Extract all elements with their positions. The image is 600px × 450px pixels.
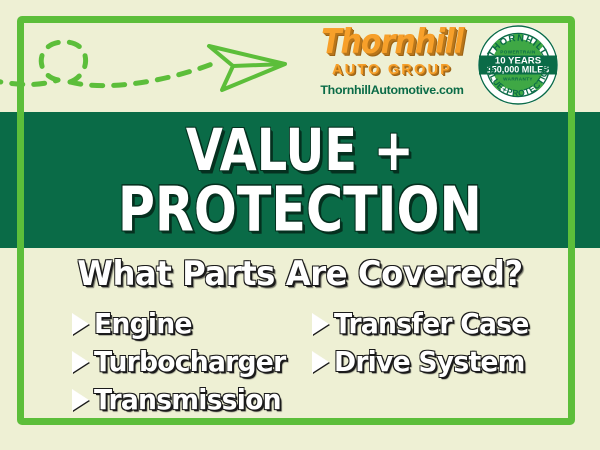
parts-column-right: Transfer Case Drive System xyxy=(312,305,539,381)
list-item: Engine xyxy=(72,305,296,343)
part-label: Transfer Case xyxy=(334,309,529,339)
subtitle-question: What Parts Are Covered? xyxy=(15,254,585,294)
flight-path-decoration xyxy=(0,18,320,110)
headline: VALUE + PROTECTION xyxy=(0,112,600,248)
warranty-badge-icon: THORNHILL POWERTRAIN 10 YEARS 150,000 MI… xyxy=(477,24,559,106)
badge-powertrain-text: POWERTRAIN xyxy=(500,50,536,55)
headline-line-2: PROTECTION xyxy=(118,177,482,242)
value-protection-ad-banner: Thornhill AUTO GROUP ThornhillAutomotive… xyxy=(0,0,600,450)
triangle-bullet-icon xyxy=(312,313,329,335)
logo-subtitle: AUTO GROUP xyxy=(318,61,466,79)
logo-wordmark: Thornhill xyxy=(318,26,466,60)
list-item: Turbocharger xyxy=(72,343,296,381)
list-item: Drive System xyxy=(312,343,539,381)
part-label: Transmission xyxy=(94,385,281,415)
covered-parts-lists: Engine Turbocharger Transmission Transfe… xyxy=(20,305,580,420)
part-label: Turbocharger xyxy=(94,347,285,377)
triangle-bullet-icon xyxy=(72,389,89,411)
triangle-bullet-icon xyxy=(72,351,89,373)
list-item: Transfer Case xyxy=(312,305,539,343)
badge-warranty-text: WARRANTY xyxy=(503,77,533,82)
list-item: Transmission xyxy=(72,381,296,419)
thornhill-logo: Thornhill AUTO GROUP ThornhillAutomotive… xyxy=(318,26,466,97)
part-label: Drive System xyxy=(334,347,525,377)
part-label: Engine xyxy=(94,309,192,339)
triangle-bullet-icon xyxy=(72,313,89,335)
triangle-bullet-icon xyxy=(312,351,329,373)
parts-column-left: Engine Turbocharger Transmission xyxy=(72,305,296,419)
logo-website-url: ThornhillAutomotive.com xyxy=(318,83,466,97)
